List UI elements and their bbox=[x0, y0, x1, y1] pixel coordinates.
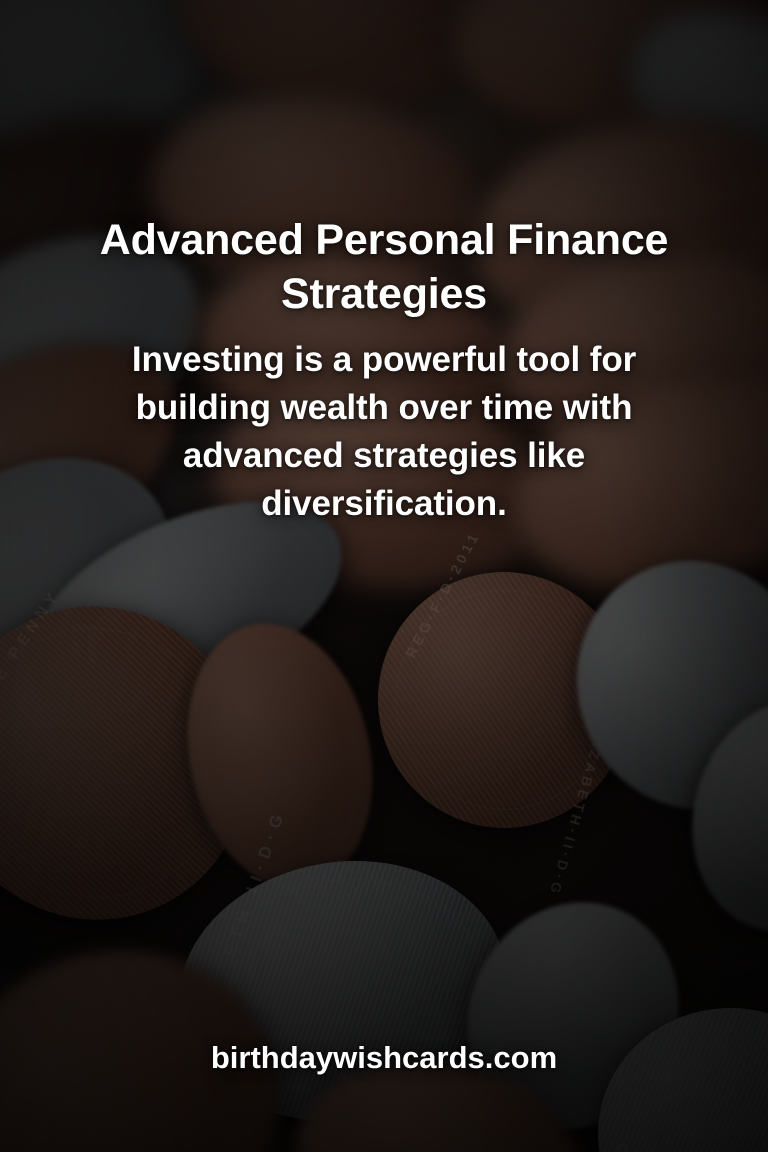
page-title: Advanced Personal Finance Strategies bbox=[52, 213, 716, 321]
site-watermark: birthdaywishcards.com bbox=[0, 1040, 768, 1076]
card-body-text: Investing is a powerful tool for buildin… bbox=[86, 336, 682, 528]
card-content: Advanced Personal Finance Strategies Inv… bbox=[0, 0, 768, 1152]
quote-card: ELIZABETH TOU ONE PENNY REG·F·D·2011 ELI… bbox=[0, 0, 768, 1152]
